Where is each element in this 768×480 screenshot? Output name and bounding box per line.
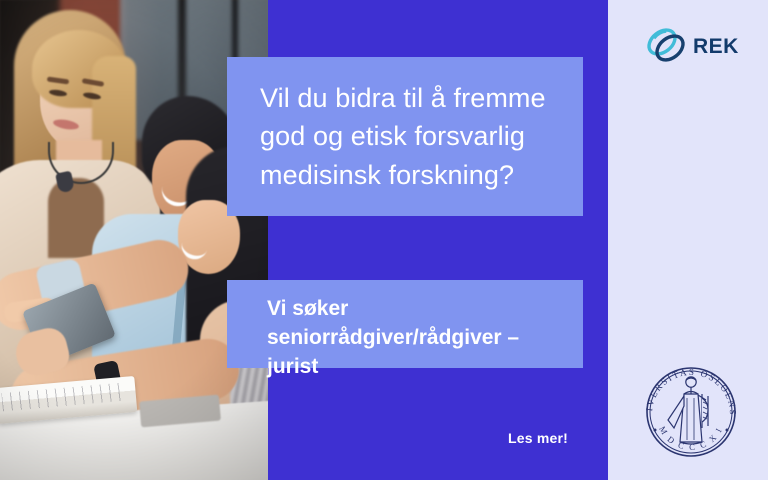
rek-logo[interactable]: REK — [645, 24, 740, 68]
headline-text: Vil du bidra til å fremme god og etisk f… — [260, 79, 557, 194]
apollo-with-lyre-icon: UNIVERSITAS OSLOENSIS M D C C C X I — [638, 358, 744, 466]
subheadline-box: Vi søker seniorrådgiver/rådgiver – juris… — [227, 280, 583, 368]
subheadline-text: Vi søker seniorrådgiver/rådgiver – juris… — [267, 295, 557, 382]
read-more-button[interactable]: Les mer! — [508, 430, 568, 446]
rek-wordmark: REK — [693, 36, 739, 57]
uio-seal[interactable]: UNIVERSITAS OSLOENSIS M D C C C X I — [638, 358, 744, 466]
recruitment-banner: REK UNIVERSITAS OSLOENSIS M D C C C X I — [0, 0, 768, 480]
headline-box: Vil du bidra til å fremme god og etisk f… — [227, 57, 583, 216]
interlocking-rings-icon — [645, 25, 689, 67]
